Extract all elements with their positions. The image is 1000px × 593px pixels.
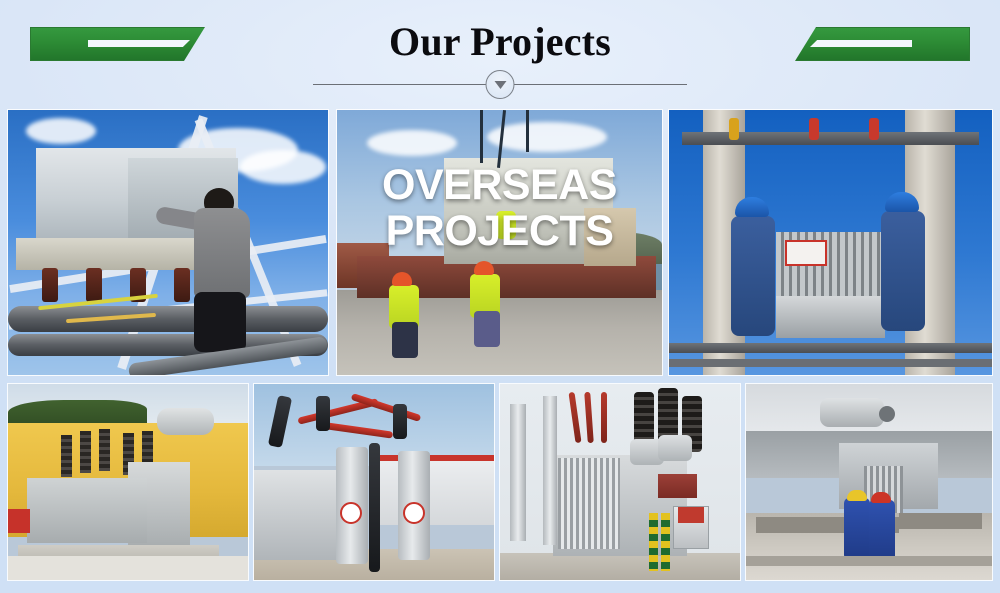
photo-scene-yellow-substation — [8, 384, 248, 580]
projects-gallery: OVERSEAS PROJECTS — [0, 108, 1000, 593]
overlay-title: OVERSEAS PROJECTS — [337, 162, 662, 255]
page-header: Our Projects — [0, 0, 1000, 108]
project-photo-2[interactable]: OVERSEAS PROJECTS — [337, 110, 662, 375]
project-photo-7[interactable] — [746, 384, 992, 580]
overlay-title-line-2: PROJECTS — [337, 208, 662, 254]
photo-scene-radiator-transformer — [500, 384, 740, 580]
photo-scene-transformer-install — [8, 110, 328, 375]
header-decoration-right — [795, 27, 970, 61]
chevron-down-icon — [486, 70, 515, 99]
project-photo-4[interactable] — [8, 384, 248, 580]
photo-scene-rooftop-workers — [746, 384, 992, 580]
project-photo-3[interactable] — [669, 110, 992, 375]
project-photo-5[interactable] — [254, 384, 494, 580]
photo-scene-red-cable-substation — [254, 384, 494, 580]
photo-scene-pole-transformer — [669, 110, 992, 375]
overlay-title-line-1: OVERSEAS — [337, 162, 662, 208]
project-photo-1[interactable] — [8, 110, 328, 375]
project-photo-6[interactable] — [500, 384, 740, 580]
section-divider — [0, 70, 1000, 100]
white-slash-right-icon — [810, 40, 912, 47]
